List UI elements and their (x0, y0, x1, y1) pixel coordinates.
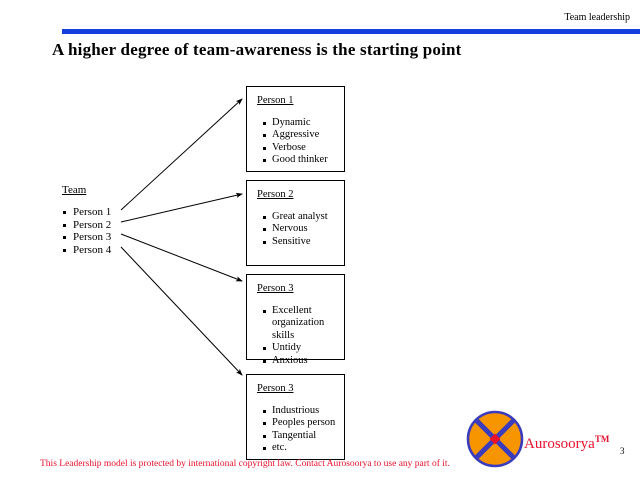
header-title: Team leadership (564, 12, 630, 23)
person-card-3[interactable]: Person 3 Excellent organization skillsUn… (246, 274, 345, 360)
person-trait-list: DynamicAggressiveVerboseGood thinker (247, 117, 344, 167)
person-trait-item: Sensitive (263, 236, 340, 248)
header-divider-rule (62, 29, 640, 34)
person-trait-item: Industrious (263, 405, 340, 417)
person-trait-item: Untidy (263, 342, 340, 354)
person-card-4[interactable]: Person 3 IndustriousPeoples personTangen… (246, 374, 345, 460)
team-member-item: Person 3 (62, 231, 182, 244)
person-trait-item: Excellent organization skills (263, 305, 340, 342)
team-member-item: Person 2 (62, 219, 182, 232)
copyright-notice: This Leadership model is protected by in… (40, 459, 450, 469)
slide-canvas: Team leadership A higher degree of team-… (0, 0, 640, 480)
arrow-to-person-4 (121, 247, 242, 375)
page-title: A higher degree of team-awareness is the… (52, 40, 462, 60)
team-block: Team Person 1Person 2Person 3Person 4 (62, 180, 182, 256)
page-number: 3 (620, 446, 625, 456)
brand-name-text: Aurosoorya (524, 436, 595, 452)
person-card-title: Person 3 (257, 283, 293, 294)
person-trait-item: Dynamic (263, 117, 340, 129)
person-trait-item: Tangential (263, 430, 340, 442)
team-member-item: Person 4 (62, 244, 182, 257)
person-card-2[interactable]: Person 2 Great analystNervousSensitive (246, 180, 345, 266)
person-trait-item: etc. (263, 442, 340, 454)
team-member-list: Person 1Person 2Person 3Person 4 (62, 206, 182, 256)
person-card-title: Person 1 (257, 95, 293, 106)
brand-name: AurosooryaTM (524, 434, 609, 453)
person-trait-item: Peoples person (263, 417, 340, 429)
person-trait-item: Great analyst (263, 211, 340, 223)
person-card-title: Person 2 (257, 189, 293, 200)
trademark-mark: TM (595, 434, 610, 444)
person-trait-item: Verbose (263, 142, 340, 154)
person-trait-list: Great analystNervousSensitive (247, 211, 344, 248)
person-trait-item: Nervous (263, 223, 340, 235)
person-card-title: Person 3 (257, 383, 293, 394)
aurosoorya-sun-icon (466, 410, 524, 468)
person-card-1[interactable]: Person 1 DynamicAggressiveVerboseGood th… (246, 86, 345, 172)
team-member-item: Person 1 (62, 206, 182, 219)
person-trait-item: Anxious (263, 355, 340, 367)
person-trait-item: Good thinker (263, 154, 340, 166)
person-trait-list: IndustriousPeoples personTangentialetc. (247, 405, 344, 455)
team-heading: Team (62, 184, 86, 196)
person-trait-item: Aggressive (263, 129, 340, 141)
brand-logo: AurosooryaTM 3 (466, 410, 636, 472)
person-trait-list: Excellent organization skillsUntidyAnxio… (247, 305, 344, 367)
